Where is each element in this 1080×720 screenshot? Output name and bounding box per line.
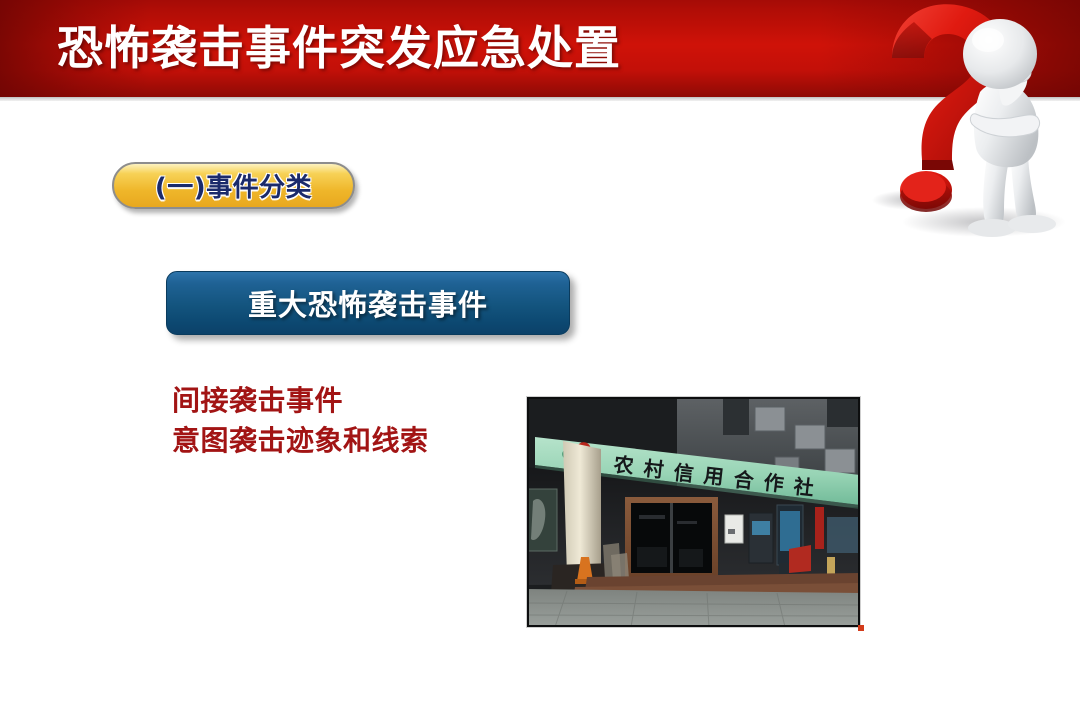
list-item: 间接袭击事件 (172, 381, 512, 421)
photo-corner-marker (858, 625, 864, 631)
svg-text:合: 合 (732, 467, 756, 493)
svg-text:村: 村 (642, 456, 665, 482)
major-attack-event-button[interactable]: 重大恐怖袭击事件 (166, 271, 570, 335)
svg-text:作: 作 (762, 470, 785, 496)
section-heading-label: (一)事件分类 (155, 167, 312, 204)
section-heading-pill[interactable]: (一)事件分类 (112, 162, 355, 209)
page-title: 恐怖袭击事件突发应急处置 (57, 18, 621, 78)
svg-text:农: 农 (611, 452, 635, 478)
slide-canvas: 恐怖袭击事件突发应急处置 (0, 0, 1080, 720)
bank-entrance-photo: 农 村 信 用 合 作 社 (526, 396, 861, 628)
svg-text:社: 社 (791, 474, 815, 500)
svg-text:信: 信 (672, 460, 695, 486)
event-category-list: 间接袭击事件 意图袭击迹象和线索 (172, 381, 512, 461)
svg-text:用: 用 (702, 463, 725, 489)
question-mark-thinker-icon (852, 0, 1080, 240)
major-attack-event-label: 重大恐怖袭击事件 (248, 282, 488, 324)
list-item: 意图袭击迹象和线索 (172, 421, 512, 461)
